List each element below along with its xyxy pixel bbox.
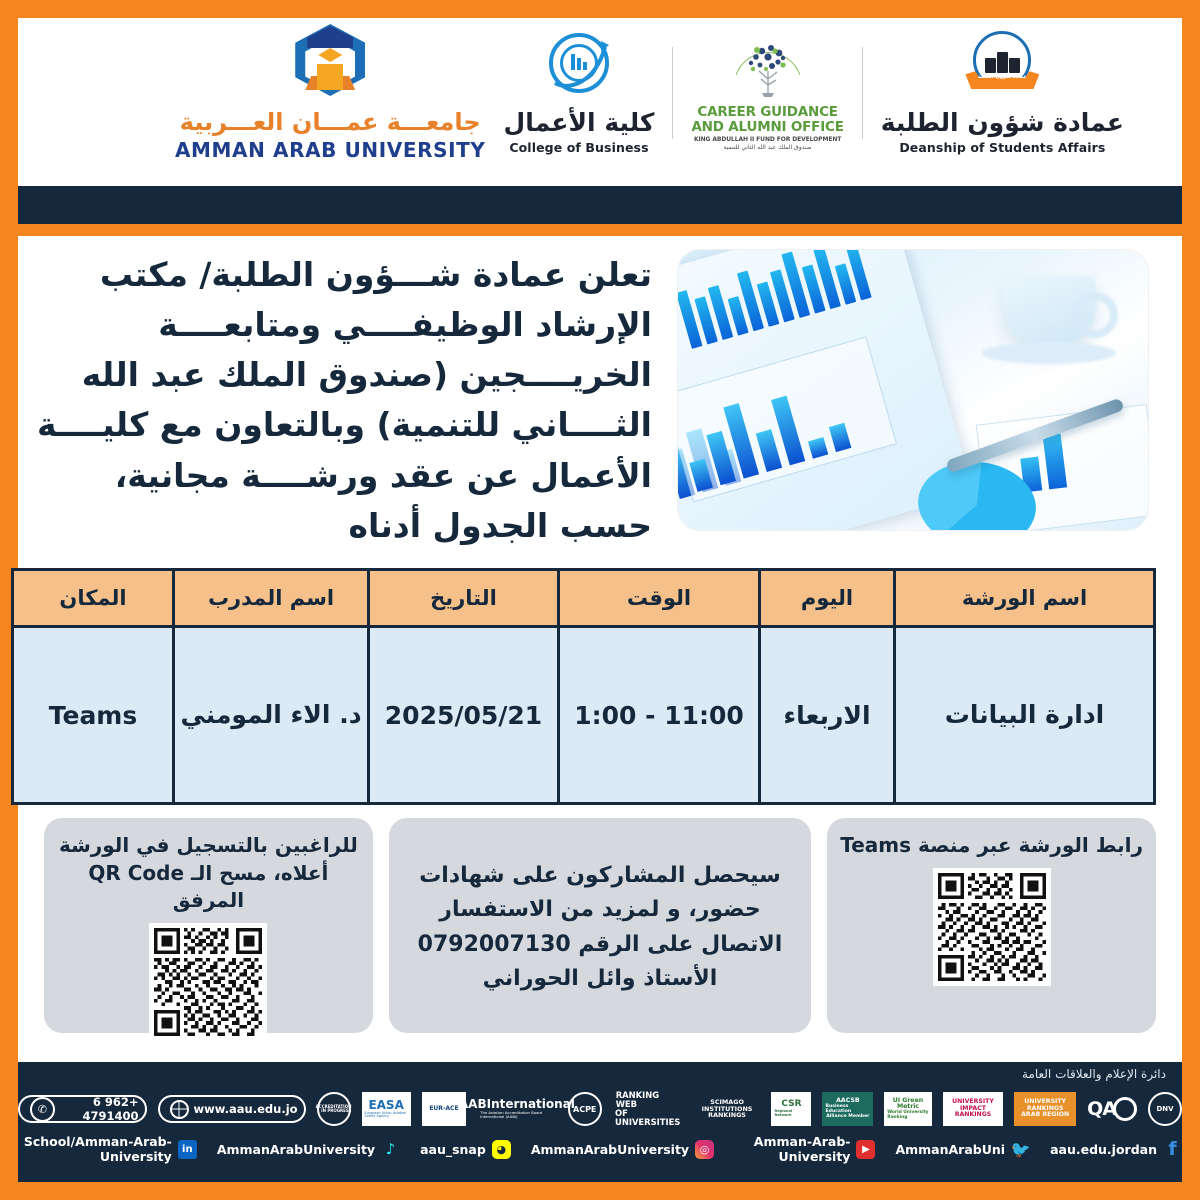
phone-pill[interactable]: +962 6 4791400 ✆ bbox=[18, 1095, 147, 1123]
notes-text: سيحصل المشاركون على شهادات حضور، و لمزيد… bbox=[401, 859, 799, 996]
facebook-handle: aau.edu.jordan bbox=[1050, 1142, 1157, 1157]
teams-link-qr-code[interactable] bbox=[933, 868, 1051, 986]
snapchat-handle: aau_snap bbox=[420, 1142, 486, 1157]
footer-department-label: دائرة الإعلام والعلاقات العامة bbox=[1022, 1067, 1166, 1081]
the-rankings-badge: UNIVERSITY IMPACT RANKINGS bbox=[943, 1092, 1003, 1126]
th-day: اليوم bbox=[760, 570, 895, 627]
aab-line2: The Aviation Accreditation Board Interna… bbox=[480, 1111, 554, 1119]
hero-image-wrapper bbox=[670, 236, 1160, 558]
registration-qr-code[interactable] bbox=[149, 923, 267, 1041]
header-logo-band: عمادة شؤون الطلبة عمادة شؤون الطلبة Dean… bbox=[18, 18, 1182, 168]
tiktok-icon: ♪ bbox=[381, 1140, 400, 1159]
easa-line1: EASA bbox=[368, 1099, 403, 1112]
social-link-youtube[interactable]: ▶ Amman-Arab-University bbox=[734, 1134, 875, 1164]
linkedin-handle: School/Amman-Arab-University bbox=[18, 1134, 172, 1164]
youtube-icon: ▶ bbox=[856, 1140, 875, 1159]
accreditation-in-progress-badge: ACCREDITATION IN PROGRESS bbox=[317, 1092, 351, 1126]
poster-canvas: عمادة شؤون الطلبة عمادة شؤون الطلبة Dean… bbox=[18, 18, 1182, 1182]
phone-icon: ✆ bbox=[30, 1097, 55, 1122]
aacsb-badge: AACSB Business Education Alliance Member bbox=[822, 1092, 873, 1126]
college-arabic-label: كلية الأعمال bbox=[504, 109, 655, 137]
cell-day: الاربعاء bbox=[760, 627, 895, 804]
deanship-english-label: Deanship of Students Affairs bbox=[899, 140, 1105, 155]
ranking-web-badge: RANKING WEB OF UNIVERSITIES bbox=[613, 1092, 683, 1126]
scimago-badge: SCIMAGO INSTITUTIONS RANKINGS bbox=[694, 1092, 761, 1126]
social-link-instagram[interactable]: ◎ AmmanArabUniversity bbox=[531, 1140, 714, 1159]
registration-title: للراغبين بالتسجيل في الورشة أعلاه، مسح ا… bbox=[56, 832, 361, 915]
csr-badge: CSR Regional Network bbox=[771, 1092, 811, 1126]
easa-badge: EASA European Union Aviation Safety Agen… bbox=[362, 1092, 411, 1126]
partner-logos-group: عمادة شؤون الطلبة عمادة شؤون الطلبة Dean… bbox=[486, 31, 1142, 155]
teams-link-title: رابط الورشة عبر منصة Teams bbox=[840, 832, 1143, 860]
rankweb-line2: OF UNIVERSITIES bbox=[615, 1109, 680, 1127]
cell-place: Teams bbox=[13, 627, 174, 804]
navy-divider-bar bbox=[18, 186, 1182, 224]
cell-time: 11:00 - 1:00 bbox=[559, 627, 760, 804]
career-office-logo: CAREER GUIDANCE AND ALUMNI OFFICE KING A… bbox=[673, 35, 861, 150]
aau-hexagon-icon bbox=[287, 24, 373, 102]
deanship-arabic-label: عمادة شؤون الطلبة bbox=[881, 109, 1124, 137]
instagram-handle: AmmanArabUniversity bbox=[531, 1142, 689, 1157]
deanship-ribbon-label: عمادة شؤون الطلبة bbox=[965, 74, 1039, 80]
notes-box: سيحصل المشاركون على شهادات حضور، و لمزيد… bbox=[389, 818, 811, 1033]
schedule-table-wrapper: اسم الورشة اليوم الوقت التاريخ اسم المدر… bbox=[44, 568, 1156, 805]
announcement-text: تعلن عمادة شـــؤون الطلبة/ مكتب الإرشاد … bbox=[18, 236, 670, 558]
qa-ring-icon bbox=[1113, 1097, 1137, 1121]
website-pill[interactable]: www.aau.edu.jo bbox=[158, 1095, 306, 1123]
career-office-en-line1: CAREER GUIDANCE bbox=[697, 105, 837, 119]
dnv-badge: DNV bbox=[1148, 1092, 1182, 1126]
th-trainer: اسم المدرب bbox=[174, 570, 369, 627]
youtube-handle: Amman-Arab-University bbox=[734, 1134, 850, 1164]
qs-rankings-badge: UNIVERSITY RANKINGS ARAB REGION bbox=[1014, 1092, 1076, 1126]
info-boxes-row: للراغبين بالتسجيل في الورشة أعلاه، مسح ا… bbox=[44, 818, 1156, 1033]
scimago-line3: RANKINGS bbox=[708, 1112, 746, 1119]
logo-divider-2 bbox=[672, 47, 673, 139]
qa-badge-label: QA bbox=[1087, 1098, 1116, 1120]
social-link-tiktok[interactable]: ♪ AmmanArabUniversity bbox=[217, 1140, 400, 1159]
linkedin-icon: in bbox=[178, 1140, 197, 1159]
eur-ace-badge: EUR-ACE bbox=[422, 1092, 466, 1126]
career-office-en-line2: AND ALUMNI OFFICE bbox=[691, 120, 843, 134]
university-logo: جامعـــة عمـــان العـــربية AMMAN ARAB U… bbox=[125, 24, 486, 162]
csr-line2: Regional Network bbox=[774, 1110, 808, 1118]
website-label: www.aau.edu.jo bbox=[194, 1102, 298, 1116]
deanship-logo: عمادة شؤون الطلبة عمادة شؤون الطلبة Dean… bbox=[863, 31, 1142, 155]
deanship-emblem-icon: عمادة شؤون الطلبة bbox=[965, 31, 1039, 101]
business-analytics-photo bbox=[678, 250, 1148, 530]
dnv-badge-label: DNV bbox=[1148, 1092, 1182, 1126]
social-link-snapchat[interactable]: ◕ aau_snap bbox=[420, 1140, 511, 1159]
social-link-twitter[interactable]: 🐦 AmmanArabUni bbox=[895, 1140, 1030, 1159]
college-english-label: College of Business bbox=[509, 140, 648, 155]
qa-badge: QA bbox=[1087, 1092, 1137, 1126]
th-time: الوقت bbox=[559, 570, 760, 627]
table-row: ادارة البيانات الاربعاء 11:00 - 1:00 202… bbox=[13, 627, 1155, 804]
snapchat-icon: ◕ bbox=[492, 1140, 511, 1159]
aacsb-line3: Alliance Member bbox=[826, 1115, 869, 1120]
phone-label: +962 6 4791400 bbox=[60, 1095, 139, 1123]
social-links-row: f aau.edu.jordan 🐦 AmmanArabUni ▶ Amman-… bbox=[18, 1136, 1182, 1162]
easa-line2: European Union Aviation Safety Agency bbox=[365, 1112, 408, 1119]
ui-greenmetric-badge: UI Green Metric World University Ranking bbox=[884, 1092, 932, 1126]
ui-line3: World University Ranking bbox=[887, 1111, 929, 1121]
teams-link-box: رابط الورشة عبر منصة Teams bbox=[827, 818, 1156, 1033]
eurace-line1: EUR-ACE bbox=[429, 1106, 458, 1112]
tiktok-handle: AmmanArabUniversity bbox=[217, 1142, 375, 1157]
aab-international-badge: AABInternational The Aviation Accreditat… bbox=[477, 1092, 557, 1126]
twitter-handle: AmmanArabUni bbox=[895, 1142, 1005, 1157]
logo-divider bbox=[862, 47, 863, 139]
hero-section: تعلن عمادة شـــؤون الطلبة/ مكتب الإرشاد … bbox=[18, 236, 1182, 558]
registration-box: للراغبين بالتسجيل في الورشة أعلاه، مسح ا… bbox=[44, 818, 373, 1033]
schedule-table: اسم الورشة اليوم الوقت التاريخ اسم المدر… bbox=[11, 568, 1156, 805]
orange-divider-strip bbox=[18, 224, 1182, 236]
th-workshop-name: اسم الورشة bbox=[895, 570, 1155, 627]
table-header-row: اسم الورشة اليوم الوقت التاريخ اسم المدر… bbox=[13, 570, 1155, 627]
accreditation-badges-row: DNV QA UNIVERSITY RANKINGS ARAB REGION U… bbox=[18, 1088, 1182, 1130]
twitter-icon: 🐦 bbox=[1011, 1140, 1030, 1159]
university-english-label: AMMAN ARAB UNIVERSITY bbox=[175, 138, 486, 162]
qs-line3: ARAB REGION bbox=[1021, 1112, 1069, 1119]
poster-root: عمادة شؤون الطلبة عمادة شؤون الطلبة Dean… bbox=[0, 0, 1200, 1200]
university-arabic-label: جامعـــة عمـــان العـــربية bbox=[180, 108, 481, 136]
social-link-facebook[interactable]: f aau.edu.jordan bbox=[1050, 1140, 1182, 1159]
cell-trainer: د. الاء المومني bbox=[174, 627, 369, 804]
college-of-business-logo: كلية الأعمال College of Business bbox=[486, 31, 673, 155]
cell-workshop-name: ادارة البيانات bbox=[895, 627, 1155, 804]
cell-date: 2025/05/21 bbox=[369, 627, 559, 804]
career-office-fund-en: KING ABDULLAH II FUND FOR DEVELOPMENT bbox=[694, 136, 841, 143]
instagram-icon: ◎ bbox=[695, 1140, 714, 1159]
the-line3: RANKINGS bbox=[955, 1112, 992, 1119]
career-tree-icon bbox=[722, 35, 814, 105]
rankweb-line1: RANKING WEB bbox=[616, 1091, 680, 1109]
footer: دائرة الإعلام والعلاقات العامة DNV QA UN… bbox=[18, 1062, 1182, 1182]
th-place: المكان bbox=[13, 570, 174, 627]
aip-badge-label: ACCREDITATION IN PROGRESS bbox=[317, 1092, 351, 1126]
social-link-linkedin[interactable]: in School/Amman-Arab-University bbox=[18, 1134, 197, 1164]
facebook-icon: f bbox=[1163, 1140, 1182, 1159]
college-chart-icon bbox=[543, 31, 615, 101]
career-office-fund-ar: صندوق الملك عبد الله الثاني للتنمية bbox=[724, 144, 812, 151]
globe-icon bbox=[170, 1100, 189, 1119]
th-date: التاريخ bbox=[369, 570, 559, 627]
